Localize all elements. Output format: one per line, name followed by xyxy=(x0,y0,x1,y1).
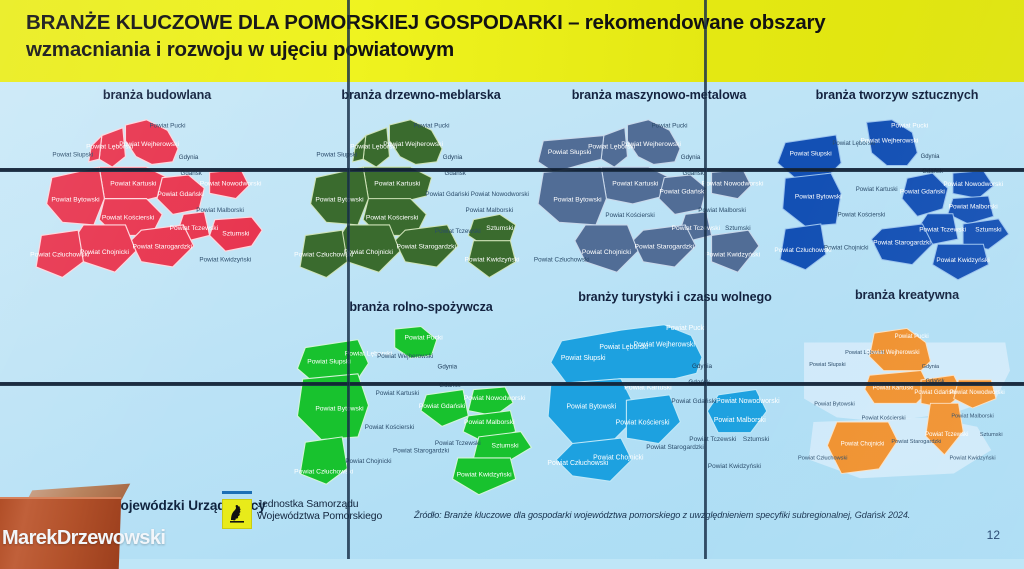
map-title-maszynowo-metalowa: branża maszynowo-metalowa xyxy=(524,88,794,102)
svg-text:Gdynia: Gdynia xyxy=(443,154,463,161)
svg-text:Powiat Starogardzki: Powiat Starogardzki xyxy=(891,439,941,445)
svg-text:Sztumski: Sztumski xyxy=(725,225,751,232)
svg-text:Powiat Wejherowski: Powiat Wejherowski xyxy=(634,341,696,348)
svg-text:Powiat Kościerski: Powiat Kościerski xyxy=(862,416,906,422)
svg-text:Gdynia: Gdynia xyxy=(692,363,713,370)
svg-text:Powiat Bytowski: Powiat Bytowski xyxy=(814,402,855,408)
svg-text:Powiat Wejherowski: Powiat Wejherowski xyxy=(866,350,919,356)
page-title: BRANŻE KLUCZOWE DLA POMORSKIEJ GOSPODARK… xyxy=(26,9,1004,63)
svg-text:Powiat Pucki: Powiat Pucki xyxy=(891,122,928,129)
svg-text:Powiat Kartuski: Powiat Kartuski xyxy=(110,180,157,187)
svg-text:Powiat Gdański: Powiat Gdański xyxy=(671,398,716,405)
frame-mullion-horizontal-top xyxy=(0,168,1024,172)
svg-text:Powiat Malborski: Powiat Malborski xyxy=(714,417,766,424)
svg-text:Powiat Człuchowski: Powiat Człuchowski xyxy=(294,469,354,476)
svg-text:Powiat Malborski: Powiat Malborski xyxy=(949,204,998,211)
svg-text:Sztumski: Sztumski xyxy=(492,442,520,449)
slide-canvas: BRANŻE KLUCZOWE DLA POMORSKIEJ GOSPODARK… xyxy=(0,0,1024,559)
svg-text:Powiat Malborski: Powiat Malborski xyxy=(951,413,993,419)
svg-text:Powiat Tczewski: Powiat Tczewski xyxy=(689,436,736,443)
svg-text:Powiat Nowodworski: Powiat Nowodworski xyxy=(950,390,1005,396)
svg-text:Powiat Starogardzki: Powiat Starogardzki xyxy=(397,244,457,251)
svg-text:Powiat Pucki: Powiat Pucki xyxy=(149,123,185,130)
svg-text:Gdynia: Gdynia xyxy=(681,154,701,161)
svg-text:Powiat Kościerski: Powiat Kościerski xyxy=(102,215,155,222)
svg-text:Sztumski: Sztumski xyxy=(975,227,1001,234)
map-graphic-tworzyw-sztucznych: Powiat Słupski Powiat Lęborski Powiat We… xyxy=(770,104,1024,288)
svg-text:Powiat Chojnicki: Powiat Chojnicki xyxy=(582,249,632,256)
svg-text:Powiat Starogardzki: Powiat Starogardzki xyxy=(393,448,449,455)
svg-text:Powiat Kwidzyński: Powiat Kwidzyński xyxy=(199,257,251,264)
svg-text:Powiat Słupski: Powiat Słupski xyxy=(52,152,93,159)
map-panel-maszynowo-metalowa[interactable]: branża maszynowo-metalowa Powiat Słupski xyxy=(524,88,794,288)
map-panel-drzewno-meblarska[interactable]: branża drzewno-meblarska Powiat Słupski xyxy=(286,88,556,288)
svg-text:Powiat Wejherowski: Powiat Wejherowski xyxy=(621,141,681,148)
svg-text:Powiat Gdański: Powiat Gdański xyxy=(425,191,469,198)
svg-text:Powiat Bytowski: Powiat Bytowski xyxy=(315,406,364,413)
svg-text:Powiat Chojnicki: Powiat Chojnicki xyxy=(841,441,885,447)
svg-text:Powiat Kwidzyński: Powiat Kwidzyński xyxy=(949,456,995,462)
frame-mullion-horizontal-bottom xyxy=(0,382,1024,386)
svg-text:Powiat Człuchowski: Powiat Człuchowski xyxy=(534,257,590,264)
svg-text:Powiat Tczewski: Powiat Tczewski xyxy=(435,440,481,447)
svg-text:Powiat Kościerski: Powiat Kościerski xyxy=(365,424,414,431)
svg-text:Powiat Człuchowski: Powiat Człuchowski xyxy=(30,251,90,258)
map-panel-kreatywna[interactable]: branża kreatywna Powiat Słupski Powiat L… xyxy=(790,288,1024,498)
map-graphic-maszynowo-metalowa: Powiat Słupski Powiat Lęborski Powiat We… xyxy=(524,104,794,288)
svg-text:Powiat Słupski: Powiat Słupski xyxy=(561,355,606,362)
source-note: Źródło: Branże kluczowe dla gospodarki w… xyxy=(414,510,910,520)
svg-text:Powiat Nowodworski: Powiat Nowodworski xyxy=(200,180,262,187)
svg-text:Powiat Słupski: Powiat Słupski xyxy=(809,362,845,368)
svg-text:Powiat Kwidzyński: Powiat Kwidzyński xyxy=(457,471,513,478)
svg-text:Powiat Kartuski: Powiat Kartuski xyxy=(376,390,419,397)
svg-text:Powiat Kwidzyński: Powiat Kwidzyński xyxy=(708,463,761,470)
svg-text:Powiat Starogardzki: Powiat Starogardzki xyxy=(133,244,193,251)
svg-text:Powiat Bytowski: Powiat Bytowski xyxy=(51,196,100,203)
svg-text:Powiat Kwidzyński: Powiat Kwidzyński xyxy=(936,257,989,264)
svg-text:Powiat Pucki: Powiat Pucki xyxy=(404,335,443,342)
svg-text:Sztumski: Sztumski xyxy=(743,436,769,443)
svg-text:Sztumski: Sztumski xyxy=(486,225,514,232)
pomorskie-crest-icon xyxy=(222,499,252,529)
svg-text:Powiat Człuchowski: Powiat Człuchowski xyxy=(798,456,848,462)
svg-text:Powiat Człuchowski: Powiat Człuchowski xyxy=(547,460,608,467)
watermark-text: MarekDrzewowski xyxy=(2,527,165,550)
svg-text:Powiat Tczewski: Powiat Tczewski xyxy=(435,228,481,235)
svg-text:Powiat Malborski: Powiat Malborski xyxy=(196,207,244,214)
svg-text:Powiat Tczewski: Powiat Tczewski xyxy=(925,432,968,438)
svg-text:Powiat Nowodworski: Powiat Nowodworski xyxy=(943,181,1003,188)
svg-text:Powiat Wejherowski: Powiat Wejherowski xyxy=(860,138,918,145)
svg-text:Powiat Bytowski: Powiat Bytowski xyxy=(553,196,602,203)
map-title-turystyki: branży turystyki i czasu wolnego xyxy=(540,290,810,304)
svg-text:Powiat Starogardzki: Powiat Starogardzki xyxy=(635,244,695,251)
page-number: 12 xyxy=(987,528,1000,542)
svg-text:Powiat Gdański: Powiat Gdański xyxy=(157,191,204,198)
svg-text:Powiat Tczewski: Powiat Tczewski xyxy=(170,225,219,232)
svg-text:Powiat Kościerski: Powiat Kościerski xyxy=(616,420,670,427)
jednostka-samorzadu-logo: Jednostka Samorządu Województwa Pomorski… xyxy=(222,490,412,538)
svg-text:Powiat Wejherowski: Powiat Wejherowski xyxy=(119,141,179,148)
frame-mullion-vertical-right xyxy=(704,0,707,559)
svg-text:Powiat Nowodworski: Powiat Nowodworski xyxy=(464,395,526,402)
svg-text:Powiat Pucki: Powiat Pucki xyxy=(666,325,706,332)
slide-title-banner: BRANŻE KLUCZOWE DLA POMORSKIEJ GOSPODARK… xyxy=(0,0,1024,82)
svg-text:Powiat Słupski: Powiat Słupski xyxy=(307,358,351,365)
svg-text:Sztumski: Sztumski xyxy=(980,432,1003,438)
svg-text:Powiat Tczewski: Powiat Tczewski xyxy=(672,225,721,232)
svg-text:Powiat Gdański: Powiat Gdański xyxy=(900,188,945,195)
svg-text:Powiat Starogardzki: Powiat Starogardzki xyxy=(646,444,704,451)
svg-text:Powiat Gdański: Powiat Gdański xyxy=(419,403,466,410)
svg-text:Powiat Bytowski: Powiat Bytowski xyxy=(315,196,364,203)
svg-text:Powiat Pucki: Powiat Pucki xyxy=(413,123,449,130)
map-panel-tworzyw-sztucznych[interactable]: branża tworzyw sztucznych Powiat Słupski xyxy=(770,88,1024,288)
map-title-tworzyw-sztucznych: branża tworzyw sztucznych xyxy=(770,88,1024,102)
svg-text:Powiat Kwidzyński: Powiat Kwidzyński xyxy=(705,251,761,258)
svg-text:Powiat Kartuski: Powiat Kartuski xyxy=(612,180,659,187)
svg-text:Powiat Człuchowski: Powiat Człuchowski xyxy=(294,251,354,258)
svg-text:Powiat Pucki: Powiat Pucki xyxy=(651,123,687,130)
map-graphic-kreatywna: Powiat Słupski Powiat Lęborski Powiat We… xyxy=(790,304,1024,498)
map-graphic-rolno-spozywcza: Powiat Słupski Powiat Lęborski Powiat We… xyxy=(286,316,556,500)
map-graphic-turystyki: Powiat Słupski Powiat Lęborski Powiat We… xyxy=(540,306,810,500)
svg-text:Powiat Słupski: Powiat Słupski xyxy=(316,152,357,159)
svg-text:Gdynia: Gdynia xyxy=(922,364,940,370)
map-panel-rolno-spozywcza[interactable]: branża rolno-spożywcza Powiat Słupski Po… xyxy=(286,300,556,500)
logo-accent-dash xyxy=(222,491,252,494)
svg-text:Gdynia: Gdynia xyxy=(921,154,941,160)
svg-text:Powiat Kościerski: Powiat Kościerski xyxy=(366,215,419,222)
svg-text:Gdynia: Gdynia xyxy=(179,154,199,161)
svg-text:Powiat Słupski: Powiat Słupski xyxy=(548,149,592,156)
map-title-budowlana: branża budowlana xyxy=(22,88,292,102)
map-graphic-drzewno-meblarska: Powiat Słupski Powiat Lęborski Powiat We… xyxy=(286,104,556,288)
svg-text:Powiat Pucki: Powiat Pucki xyxy=(895,334,929,340)
svg-text:Sztumski: Sztumski xyxy=(222,230,250,237)
map-graphic-budowlana: Powiat Słupski Powiat Lęborski Powiat We… xyxy=(22,104,292,288)
svg-text:Powiat Nowodworski: Powiat Nowodworski xyxy=(471,191,529,198)
map-panel-turystyki[interactable]: branży turystyki i czasu wolnego Powiat … xyxy=(540,290,810,500)
map-title-kreatywna: branża kreatywna xyxy=(790,288,1024,302)
svg-text:Powiat Nowodworski: Powiat Nowodworski xyxy=(716,398,780,405)
svg-text:Gdynia: Gdynia xyxy=(438,364,458,371)
svg-text:Powiat Kwidzyński: Powiat Kwidzyński xyxy=(464,257,520,264)
frame-mullion-vertical-left xyxy=(347,0,350,559)
map-title-rolno-spozywcza: branża rolno-spożywcza xyxy=(286,300,556,314)
svg-text:Powiat Kartuski: Powiat Kartuski xyxy=(872,385,913,391)
svg-text:Powiat Kościerski: Powiat Kościerski xyxy=(605,212,654,219)
svg-text:Powiat Kartuski: Powiat Kartuski xyxy=(374,180,421,187)
svg-text:Powiat Starogardzki: Powiat Starogardzki xyxy=(873,239,931,246)
svg-text:Powiat Gdański: Powiat Gdański xyxy=(659,188,706,195)
svg-text:Powiat Bytowski: Powiat Bytowski xyxy=(795,194,842,201)
map-panel-budowlana[interactable]: branża budowlana xyxy=(22,88,292,288)
svg-text:Powiat Wejherowski: Powiat Wejherowski xyxy=(383,141,443,148)
svg-text:Powiat Słupski: Powiat Słupski xyxy=(790,150,832,157)
jednostka-samorzadu-label: Jednostka Samorządu Województwa Pomorski… xyxy=(257,499,382,524)
svg-text:Powiat Wejherowski: Powiat Wejherowski xyxy=(377,353,433,360)
svg-text:Powiat Kościerski: Powiat Kościerski xyxy=(838,211,886,218)
svg-text:Powiat Bytowski: Powiat Bytowski xyxy=(566,403,616,410)
svg-text:Powiat Malborski: Powiat Malborski xyxy=(466,207,514,214)
map-title-drzewno-meblarska: branża drzewno-meblarska xyxy=(286,88,556,102)
svg-text:Powiat Kartuski: Powiat Kartuski xyxy=(856,186,898,193)
svg-text:Powiat Nowodworski: Powiat Nowodworski xyxy=(702,180,764,187)
svg-text:Powiat Chojnicki: Powiat Chojnicki xyxy=(345,458,391,465)
svg-text:Powiat Człuchowski: Powiat Człuchowski xyxy=(774,247,831,254)
svg-text:Powiat Tczewski: Powiat Tczewski xyxy=(919,227,966,234)
svg-text:Powiat Malborski: Powiat Malborski xyxy=(464,419,515,426)
